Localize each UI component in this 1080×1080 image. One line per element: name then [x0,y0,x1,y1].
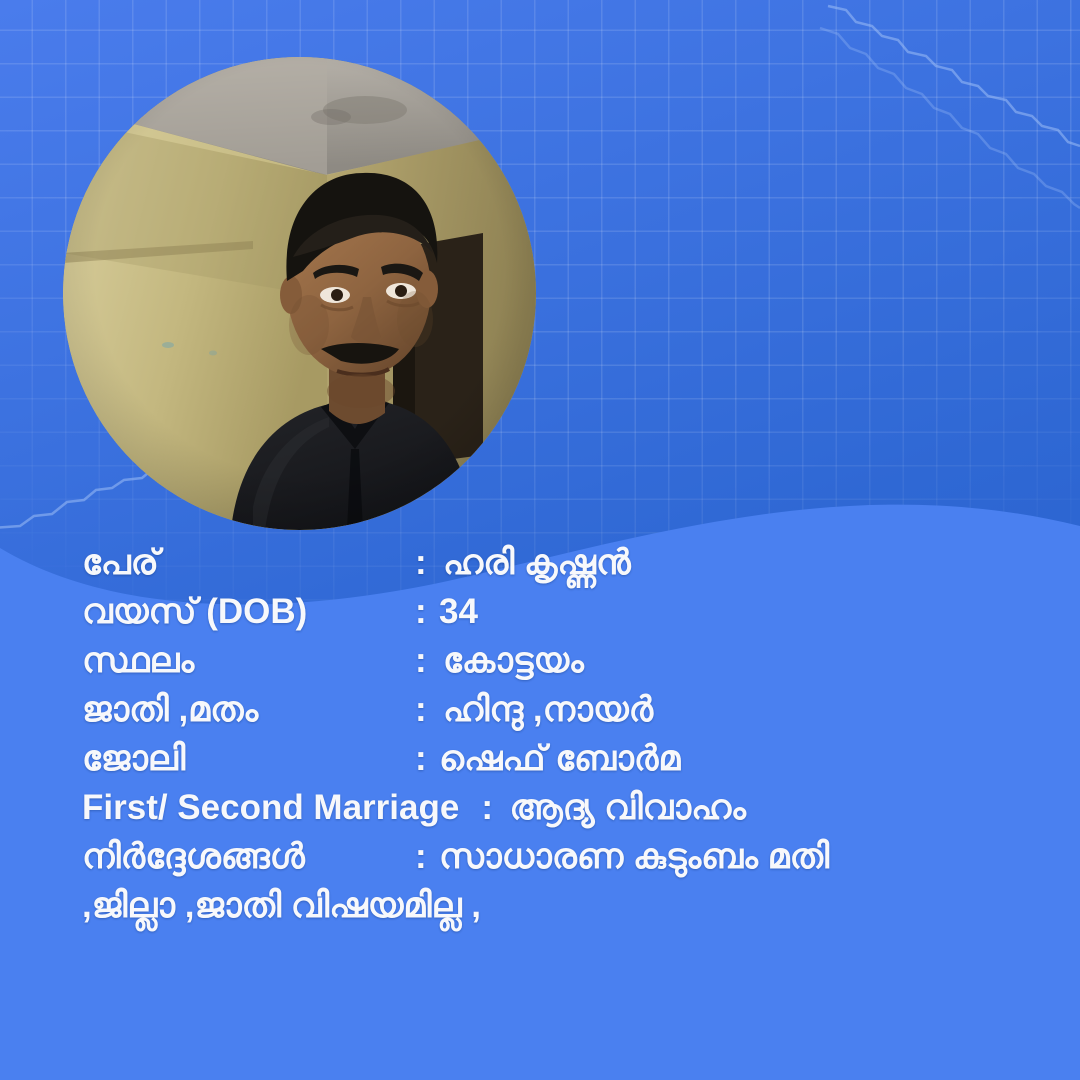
label-caste-religion: ജാതി ,മതം [82,685,415,734]
colon-place: : [415,636,437,685]
colon-marriage: : [481,783,503,832]
colon-age: : [415,587,437,636]
preferences-continuation: ,ജില്ലാ ,ജാതി വിഷയമില്ല , [82,881,1042,930]
label-age: വയസ് (DOB) [82,587,415,636]
value-age: 34 [437,587,478,636]
label-job: ജോലി [82,734,415,783]
detail-row-name: പേര് : ഹരി കൃഷ്ണൻ [82,538,1042,587]
detail-row-job: ജോലി : ഷെഫ് ബോർമ [82,734,1042,783]
detail-row-age: വയസ് (DOB) : 34 [82,587,1042,636]
colon-preferences: : [415,832,437,881]
colon-caste-religion: : [415,685,437,734]
value-caste-religion: ഹിന്ദു ,നായർ [437,685,653,734]
label-name: പേര് [82,538,415,587]
colon-job: : [415,734,437,783]
colon-name: : [415,538,437,587]
profile-details: പേര് : ഹരി കൃഷ്ണൻ വയസ് (DOB) : 34 സ്ഥലം … [82,538,1042,930]
value-name: ഹരി കൃഷ്ണൻ [437,538,631,587]
value-job: ഷെഫ് ബോർമ [437,734,680,783]
value-place: കോട്ടയം [437,636,584,685]
label-marriage: First/ Second Marriage [82,783,481,832]
value-marriage: ആദ്യ വിവാഹം [503,783,746,832]
detail-row-marriage: First/ Second Marriage : ആദ്യ വിവാഹം [82,783,1042,832]
profile-photo [63,57,536,530]
label-place: സ്ഥലം [82,636,415,685]
value-preferences: സാധാരണ കുടുംബം മതി [437,832,829,881]
detail-row-preferences: നിർദ്ദേശങ്ങൾ : സാധാരണ കുടുംബം മതി [82,832,1042,881]
profile-card: പേര് : ഹരി കൃഷ്ണൻ വയസ് (DOB) : 34 സ്ഥലം … [0,0,1080,1080]
detail-row-caste-religion: ജാതി ,മതം : ഹിന്ദു ,നായർ [82,685,1042,734]
label-preferences: നിർദ്ദേശങ്ങൾ [82,832,415,881]
detail-row-place: സ്ഥലം : കോട്ടയം [82,636,1042,685]
portrait-illustration [63,57,536,530]
